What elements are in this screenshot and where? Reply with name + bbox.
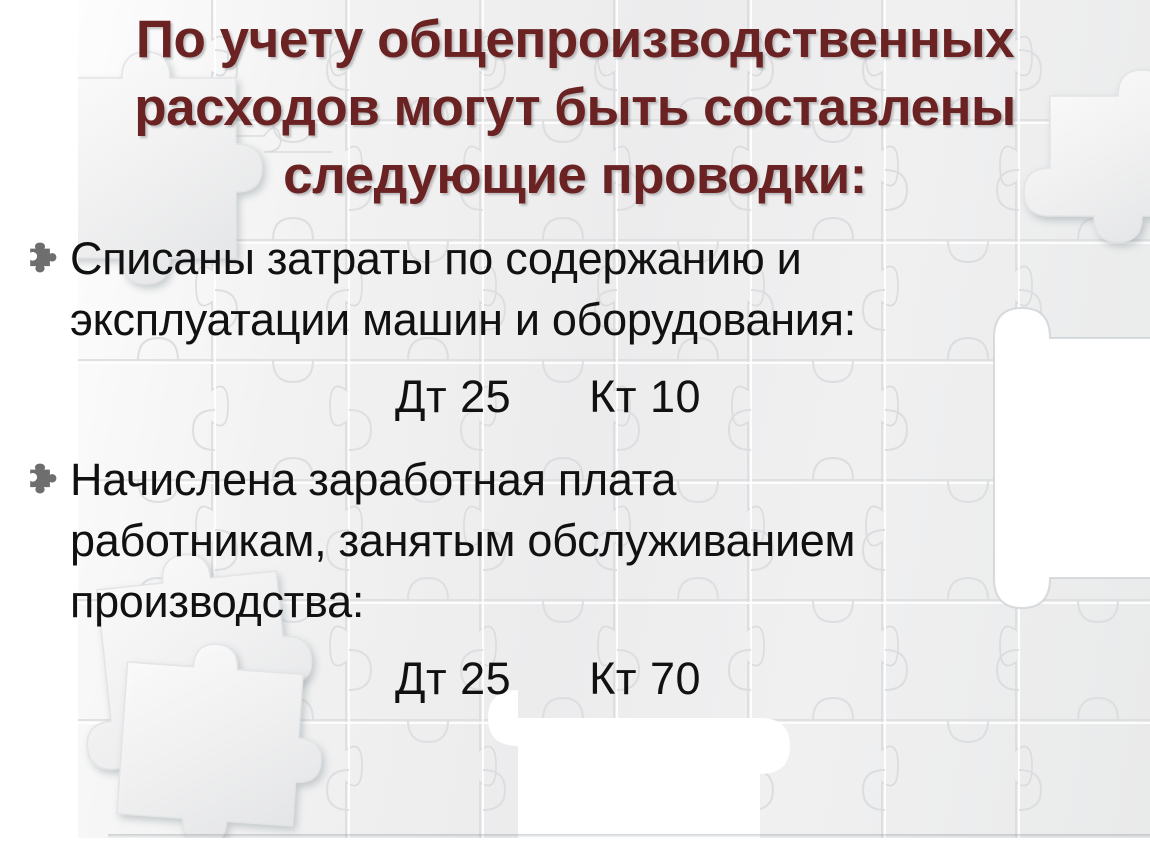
- bullet-1-text: Списаны затраты по содержанию и эксплуат…: [70, 228, 1150, 350]
- puzzle-piece-bullet-icon: [28, 241, 62, 273]
- slide-canvas: По учету общепроизводственных расходов м…: [0, 0, 1150, 864]
- slide-title: По учету общепроизводственных расходов м…: [60, 6, 1090, 210]
- puzzle-piece-bullet-icon: [28, 462, 62, 494]
- slide-title-line-1: По учету общепроизводственных: [60, 6, 1090, 74]
- bullet-list-item-1: Списаны затраты по содержанию и эксплуат…: [0, 228, 1150, 350]
- bullet-2-line-3: производства:: [70, 571, 1090, 632]
- puzzle-hole-bottom: [488, 690, 790, 838]
- bullet-2-line-1: Начислена заработная плата: [70, 449, 1090, 510]
- accounting-entry-1: Дт 25 Кт 10: [0, 366, 1150, 427]
- bullet-list-item-2: Начислена заработная плата работникам, з…: [0, 449, 1150, 632]
- accounting-entry-2: Дт 25 Кт 70: [0, 648, 1150, 709]
- bullet-2-text: Начислена заработная плата работникам, з…: [70, 449, 1150, 632]
- bullet-1-line-2: эксплуатации машин и оборудования:: [70, 289, 1090, 350]
- slide-title-line-3: следующие проводки:: [60, 142, 1090, 210]
- slide-body: Списаны затраты по содержанию и эксплуат…: [0, 228, 1150, 709]
- bullet-2-line-2: работникам, занятым обслуживанием: [70, 510, 1090, 571]
- slide-title-line-2: расходов могут быть составлены: [60, 74, 1090, 142]
- bullet-1-line-1: Списаны затраты по содержанию и: [70, 228, 1090, 289]
